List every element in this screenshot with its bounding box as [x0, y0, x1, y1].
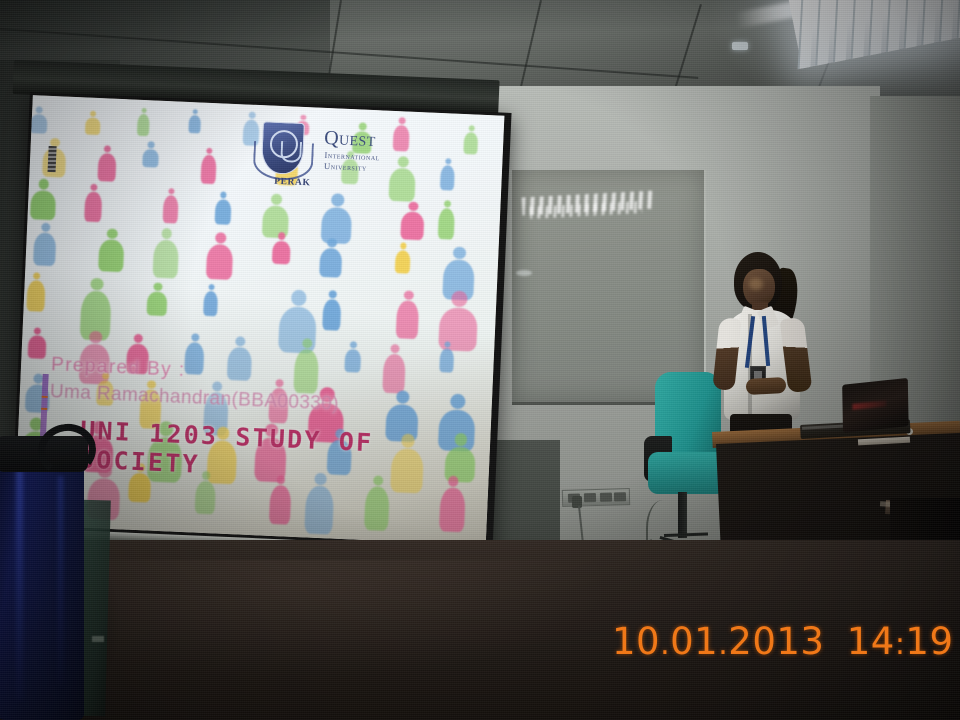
pictogram-person [152, 228, 179, 279]
pictogram-person [321, 193, 353, 244]
pictogram-person [400, 201, 425, 240]
timestamp-year: 2013 [728, 620, 824, 663]
timestamp-hour: 14 [847, 620, 895, 663]
pictogram-person [188, 109, 201, 134]
office-chair-seat[interactable] [648, 452, 726, 494]
classroom-photo: PERAK Quest International University Pre… [0, 0, 960, 720]
ruler-tick [41, 408, 47, 410]
pictogram-person [30, 178, 57, 220]
power-plug [572, 496, 582, 508]
presenter [712, 252, 822, 452]
water-bottle[interactable] [0, 452, 84, 720]
pictogram-person [463, 125, 479, 155]
pictogram-person [394, 242, 411, 273]
projection-screen-surface: PERAK Quest International University Pre… [14, 95, 504, 545]
projection-screen: PERAK Quest International University Pre… [11, 92, 512, 555]
pictogram-person [97, 145, 116, 181]
pictogram-person [162, 187, 179, 223]
slide-left-marker [48, 146, 57, 172]
pictogram-person [382, 344, 406, 394]
pictogram-person [85, 110, 101, 135]
pictogram-person [26, 272, 46, 312]
camera-timestamp: 10.01.2013 14:19 [612, 620, 954, 663]
pictogram-person [200, 147, 217, 184]
pictogram-person [136, 107, 150, 136]
timestamp-day: 10 [612, 620, 660, 663]
pictogram-person [142, 141, 158, 168]
presenter-hands [746, 377, 787, 395]
pictogram-person [437, 200, 455, 240]
pictogram-person [30, 106, 48, 134]
bottle-highlight [58, 476, 63, 686]
pictogram-person [396, 290, 420, 339]
crest-letter-u [280, 141, 302, 163]
pictogram-person [33, 222, 58, 266]
ceiling-sensor-icon [732, 42, 748, 50]
pictogram-person [147, 282, 168, 316]
bottle-highlight [16, 470, 23, 700]
floor-light-sheen [90, 560, 610, 680]
timestamp-minute: 19 [905, 620, 953, 663]
pictogram-person [322, 290, 341, 331]
office-chair-post [678, 492, 687, 538]
ruler-tick [42, 396, 48, 398]
pictogram-person [206, 232, 234, 280]
pictogram-person [203, 283, 219, 316]
timestamp-month: 01 [670, 620, 718, 663]
pictogram-person [440, 158, 456, 190]
pictogram-person [344, 341, 361, 372]
whiteboard-smudge [516, 270, 532, 276]
pictogram-person [184, 333, 205, 375]
pictogram-person [98, 228, 124, 272]
laptop[interactable] [842, 378, 908, 433]
pictogram-person [319, 238, 343, 278]
logo-university-label: University [324, 161, 367, 174]
pictogram-person [272, 232, 291, 264]
presentation-slide: PERAK Quest International University Pre… [14, 95, 504, 545]
logo-perak-label: PERAK [264, 176, 320, 188]
green-object-highlight [92, 636, 104, 642]
logo-quest-label: Quest [324, 128, 376, 150]
pictogram-person [84, 183, 102, 222]
pictogram-person [227, 335, 253, 380]
university-logo: PERAK Quest International University [250, 119, 399, 201]
laptop-logo [852, 400, 886, 410]
pictogram-person [439, 341, 454, 372]
pictogram-person [214, 191, 231, 224]
pictogram-person [28, 327, 47, 358]
whiteboard [512, 170, 706, 405]
